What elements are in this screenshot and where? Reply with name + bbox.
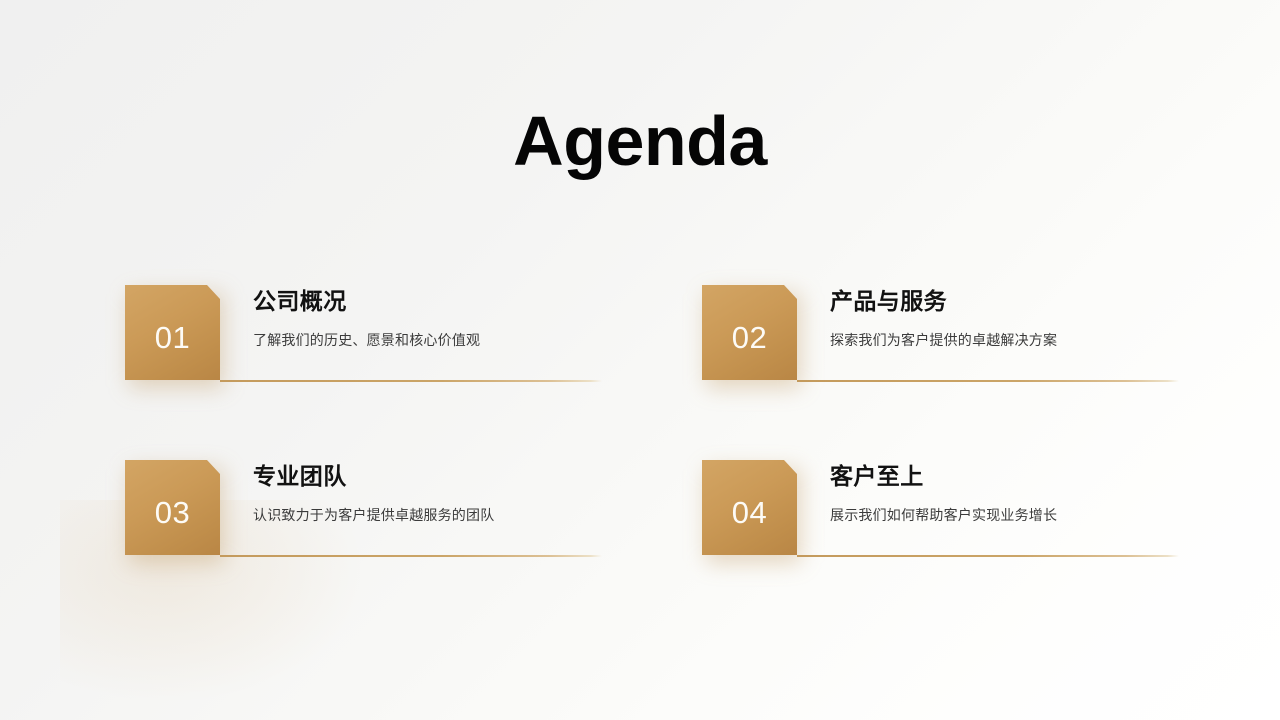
divider-rule (220, 555, 602, 557)
agenda-slide: Agenda 01 公司概况 了解我们的历史、愿景和核心价值观 02 产品与服务… (0, 0, 1280, 720)
agenda-item-subtitle: 认识致力于为客户提供卓越服务的团队 (253, 506, 603, 526)
agenda-item-text-04: 客户至上 展示我们如何帮助客户实现业务增长 (830, 462, 1180, 526)
agenda-item-subtitle: 探索我们为客户提供的卓越解决方案 (830, 331, 1180, 351)
agenda-item-text-02: 产品与服务 探索我们为客户提供的卓越解决方案 (830, 287, 1180, 351)
agenda-item-title: 专业团队 (253, 462, 603, 492)
number-badge-01: 01 (125, 285, 220, 380)
badge-number: 01 (155, 322, 190, 353)
divider-rule (797, 555, 1179, 557)
agenda-item-title: 客户至上 (830, 462, 1180, 492)
agenda-item-text-03: 专业团队 认识致力于为客户提供卓越服务的团队 (253, 462, 603, 526)
number-badge-04: 04 (702, 460, 797, 555)
agenda-item-04[interactable]: 04 客户至上 展示我们如何帮助客户实现业务增长 (702, 460, 1180, 560)
agenda-item-text-01: 公司概况 了解我们的历史、愿景和核心价值观 (253, 287, 603, 351)
agenda-item-title: 产品与服务 (830, 287, 1180, 317)
agenda-item-02[interactable]: 02 产品与服务 探索我们为客户提供的卓越解决方案 (702, 285, 1180, 385)
badge-number: 04 (732, 497, 767, 528)
badge-number: 03 (155, 497, 190, 528)
agenda-item-subtitle: 展示我们如何帮助客户实现业务增长 (830, 506, 1180, 526)
agenda-item-01[interactable]: 01 公司概况 了解我们的历史、愿景和核心价值观 (125, 285, 603, 385)
divider-rule (220, 380, 602, 382)
number-badge-03: 03 (125, 460, 220, 555)
agenda-item-title: 公司概况 (253, 287, 603, 317)
number-badge-02: 02 (702, 285, 797, 380)
divider-rule (797, 380, 1179, 382)
agenda-item-subtitle: 了解我们的历史、愿景和核心价值观 (253, 331, 603, 351)
badge-number: 02 (732, 322, 767, 353)
agenda-item-grid: 01 公司概况 了解我们的历史、愿景和核心价值观 02 产品与服务 探索我们为客… (0, 0, 1280, 720)
agenda-item-03[interactable]: 03 专业团队 认识致力于为客户提供卓越服务的团队 (125, 460, 603, 560)
